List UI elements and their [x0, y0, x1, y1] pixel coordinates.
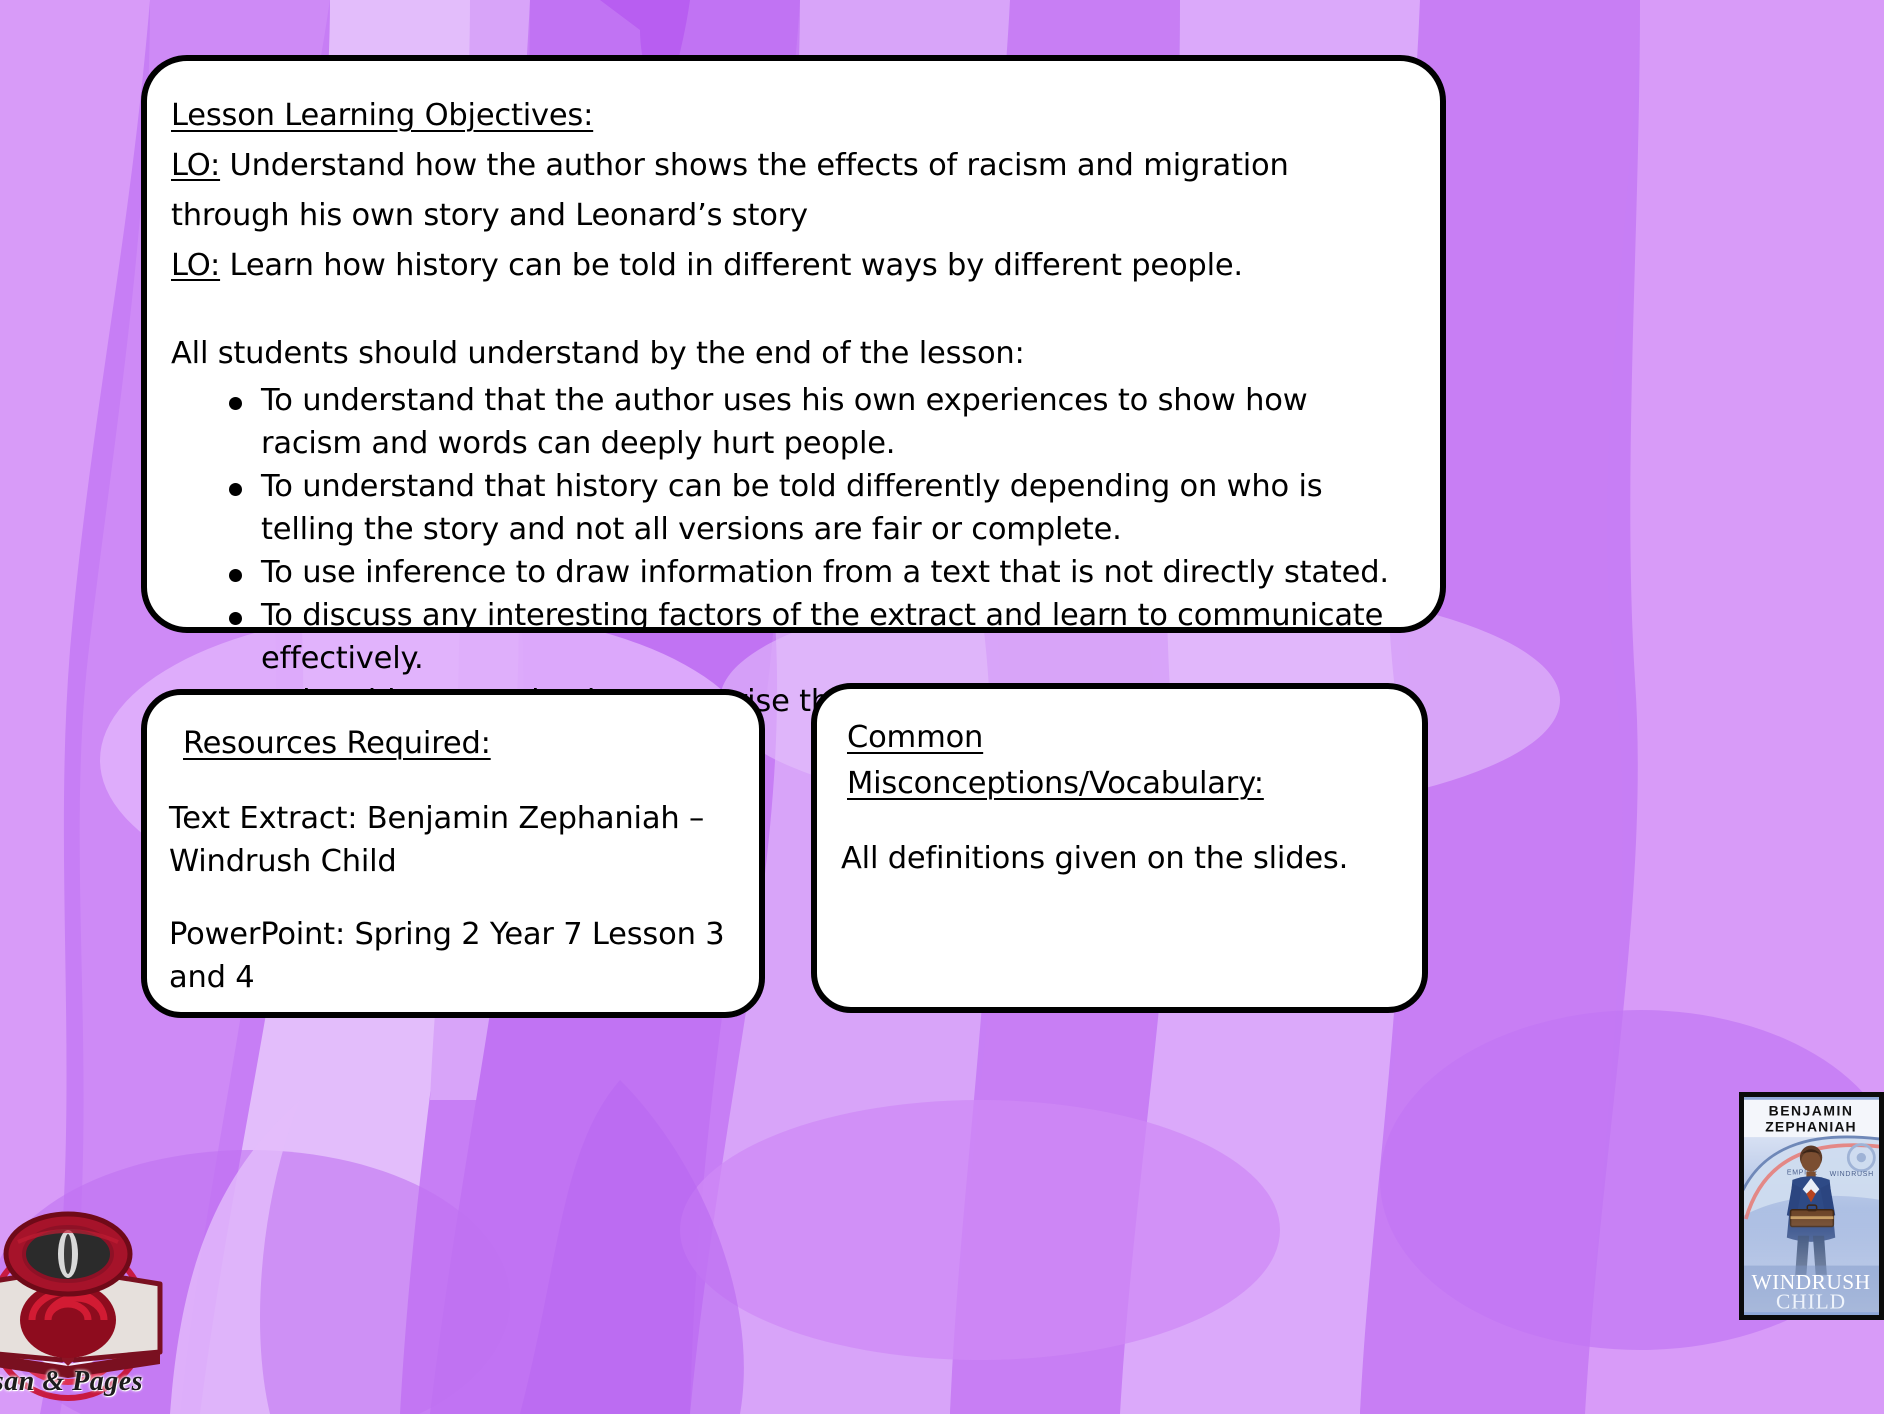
resources-gap-2 — [169, 883, 733, 913]
resources-heading: Resources Required: — [183, 721, 491, 767]
resources-heading-row: Resources Required: — [183, 721, 733, 767]
resources-gap-1 — [169, 767, 733, 797]
common-misconceptions-card: Common Misconceptions/Vocabulary: All de… — [811, 683, 1428, 1013]
cover-author-line-1: BENJAMIN — [1769, 1103, 1854, 1119]
resources-text-extract: Text Extract: Benjamin Zephaniah – Windr… — [169, 797, 733, 883]
logo-caption: san & Pages — [0, 1366, 174, 1398]
misconceptions-text: All definitions given on the slides. — [841, 837, 1398, 880]
lo2-text: Learn how history can be told in differe… — [220, 248, 1243, 283]
book-cover-art: EMPIRE WINDRUSH — [1744, 1097, 1879, 1315]
objectives-heading: Lesson Learning Objectives: — [171, 93, 593, 139]
objectives-gap — [171, 291, 1406, 329]
list-item: To understand that the author uses his o… — [225, 379, 1406, 465]
cover-author-line-2: ZEPHANIAH — [1765, 1119, 1856, 1135]
lo1-text: Understand how the author shows the effe… — [171, 148, 1289, 233]
lo2-label: LO: — [171, 248, 220, 283]
list-item: To understand that history can be told d… — [225, 465, 1406, 551]
windrush-child-book-cover: EMPIRE WINDRUSH — [1739, 1092, 1884, 1320]
lo1-label: LO: — [171, 148, 220, 183]
list-item: To use inference to draw information fro… — [225, 551, 1406, 594]
list-item: To discuss any interesting factors of th… — [225, 594, 1406, 680]
objective-lo-2: LO: Learn how history can be told in dif… — [171, 241, 1406, 291]
slide-canvas: Lesson Learning Objectives: LO: Understa… — [0, 0, 1884, 1414]
lesson-objectives-card: Lesson Learning Objectives: LO: Understa… — [141, 55, 1446, 633]
misconceptions-heading-row: Common Misconceptions/Vocabulary: — [847, 715, 1398, 807]
objectives-intro: All students should understand by the en… — [171, 329, 1406, 379]
objectives-heading-row: Lesson Learning Objectives: — [171, 91, 1406, 141]
misconceptions-gap — [841, 807, 1398, 837]
resources-required-card: Resources Required: Text Extract: Benjam… — [141, 689, 765, 1018]
objective-lo-1: LO: Understand how the author shows the … — [171, 141, 1406, 241]
misconceptions-heading: Common Misconceptions/Vocabulary: — [847, 715, 1398, 807]
resources-powerpoint: PowerPoint: Spring 2 Year 7 Lesson 3 and… — [169, 913, 733, 999]
ship-name-right: WINDRUSH — [1830, 1171, 1874, 1178]
cover-title-line-2: CHILD — [1776, 1289, 1846, 1313]
